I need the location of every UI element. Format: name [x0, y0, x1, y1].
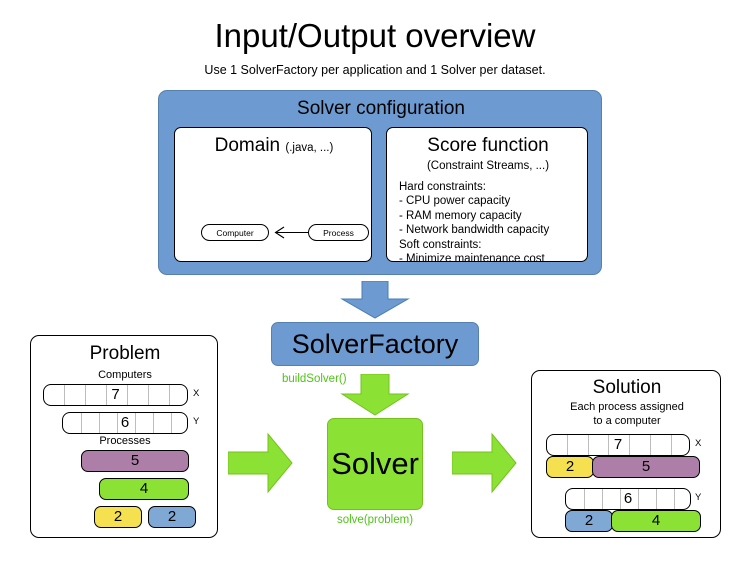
constraint-line: Soft constraints:: [399, 238, 587, 252]
constraint-line: - RAM memory capacity: [399, 209, 587, 223]
domain-heading-suffix: (.java, ...): [285, 142, 333, 154]
constraint-line: - Minimize maintenance cost: [399, 252, 587, 266]
solution-panel: Solution Each process assigned to a comp…: [531, 370, 721, 538]
problem-axis-label-y: Y: [193, 416, 199, 428]
green-down-arrow-icon: [336, 374, 414, 416]
problem-computer-bar-y: 6: [62, 412, 188, 434]
solution-axis-label-x: X: [695, 438, 701, 450]
processes-caption: Processes: [31, 435, 219, 449]
green-right-arrow-icon-problem-to-solver: [228, 430, 294, 496]
score-function-heading: Score function: [387, 134, 589, 157]
solution-axis-label-y: Y: [695, 492, 701, 504]
solution-assigned-process: 4: [611, 510, 701, 532]
problem-panel: Problem Computers 7 X 6 Y Processes 5 4 …: [30, 335, 218, 538]
domain-heading: Domain (.java, ...): [175, 134, 373, 160]
solution-caption: Each process assigned to a computer: [532, 401, 722, 428]
blue-down-arrow-icon: [335, 281, 415, 319]
score-function-subheading: (Constraint Streams, ...): [387, 159, 589, 174]
solver-box: Solver: [327, 418, 423, 510]
problem-axis-label-x: X: [193, 388, 199, 400]
constraint-list: Hard constraints: - CPU power capacity -…: [399, 180, 587, 266]
solve-problem-label: solve(problem): [327, 513, 423, 527]
solution-caption-line2: to a computer: [532, 415, 722, 429]
solution-assigned-process: 5: [592, 456, 700, 478]
solution-computer-bar-x: 7: [546, 434, 690, 456]
solution-computer-value-x: 7: [547, 435, 689, 455]
page-subtitle: Use 1 SolverFactory per application and …: [0, 62, 750, 78]
solution-computer-value-y: 6: [566, 489, 690, 509]
problem-computer-bar-x: 7: [43, 384, 188, 406]
domain-card: Domain (.java, ...) Computer Process: [174, 127, 372, 262]
solution-caption-line1: Each process assigned: [532, 401, 722, 415]
computers-caption: Computers: [31, 369, 219, 383]
solver-factory-box: SolverFactory: [271, 322, 479, 366]
solver-configuration-title: Solver configuration: [159, 97, 603, 121]
constraint-line: - CPU power capacity: [399, 194, 587, 208]
domain-heading-text: Domain: [215, 135, 280, 156]
solution-assigned-process: 2: [565, 510, 613, 532]
score-function-card: Score function (Constraint Streams, ...)…: [386, 127, 588, 262]
problem-computer-value-x: 7: [44, 385, 187, 405]
solver-configuration-box: Solver configuration Domain (.java, ...)…: [158, 90, 602, 275]
uml-node-process: Process: [308, 224, 369, 241]
problem-process-block: 2: [148, 506, 196, 528]
uml-node-computer: Computer: [201, 224, 269, 241]
solution-assigned-process: 2: [546, 456, 594, 478]
constraint-line: Hard constraints:: [399, 180, 587, 194]
page-title: Input/Output overview: [0, 16, 750, 56]
problem-title: Problem: [31, 342, 219, 365]
domain-class-diagram: Computer Process: [183, 218, 365, 246]
problem-computer-value-y: 6: [63, 413, 187, 433]
problem-process-block: 5: [81, 450, 189, 472]
problem-process-block: 2: [94, 506, 142, 528]
solution-computer-bar-y: 6: [565, 488, 691, 510]
constraint-line: - Network bandwidth capacity: [399, 223, 587, 237]
green-right-arrow-icon-solver-to-solution: [452, 430, 518, 496]
problem-process-block: 4: [99, 478, 189, 500]
solution-title: Solution: [532, 376, 722, 399]
